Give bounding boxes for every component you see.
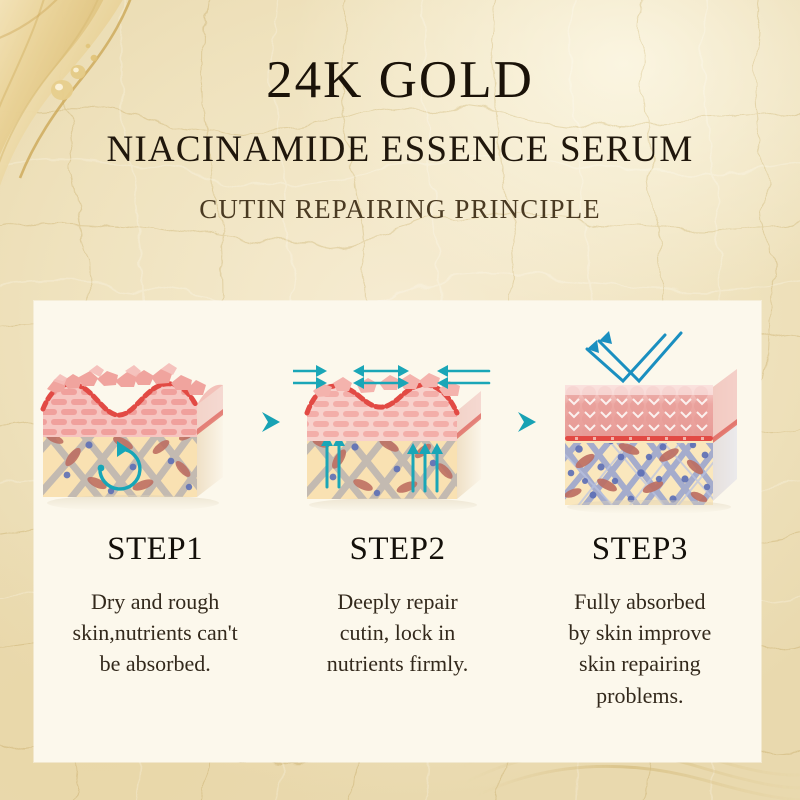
step2-text-block: STEP2 Deeply repair cutin, lock in nutri… — [299, 533, 495, 711]
step-labels-row: STEP1 Dry and rough skin,nutrients can't… — [34, 533, 761, 711]
step-diagrams-row — [34, 327, 761, 517]
step1-diagram — [37, 327, 247, 517]
heading-block: 24K GOLD NIACINAMIDE ESSENCE SERUM CUTIN… — [0, 52, 800, 225]
chevron-right-icon — [255, 407, 285, 437]
step3-text-block: STEP3 Fully absorbed by skin improve ski… — [542, 533, 738, 711]
step1-description: Dry and rough skin,nutrients can't be ab… — [57, 586, 253, 680]
arrow-step1-to-step2 — [247, 327, 293, 517]
poster-root: 24K GOLD NIACINAMIDE ESSENCE SERUM CUTIN… — [0, 0, 800, 800]
step2-description: Deeply repair cutin, lock in nutrients f… — [299, 586, 495, 680]
step2-title: STEP2 — [299, 533, 495, 566]
step1-text-block: STEP1 Dry and rough skin,nutrients can't… — [57, 533, 253, 711]
step3-diagram — [549, 327, 759, 517]
step3-description: Fully absorbed by skin improve skin repa… — [542, 586, 738, 711]
page-subtitle: NIACINAMIDE ESSENCE SERUM — [0, 130, 800, 171]
step1-title: STEP1 — [57, 533, 253, 566]
page-title: 24K GOLD — [0, 52, 800, 108]
chevron-right-icon — [511, 407, 541, 437]
arrow-step2-to-step3 — [503, 327, 549, 517]
step3-title: STEP3 — [542, 533, 738, 566]
steps-card: STEP1 Dry and rough skin,nutrients can't… — [34, 301, 761, 762]
step2-diagram — [293, 327, 503, 517]
page-tagline: CUTIN REPAIRING PRINCIPLE — [0, 195, 800, 225]
